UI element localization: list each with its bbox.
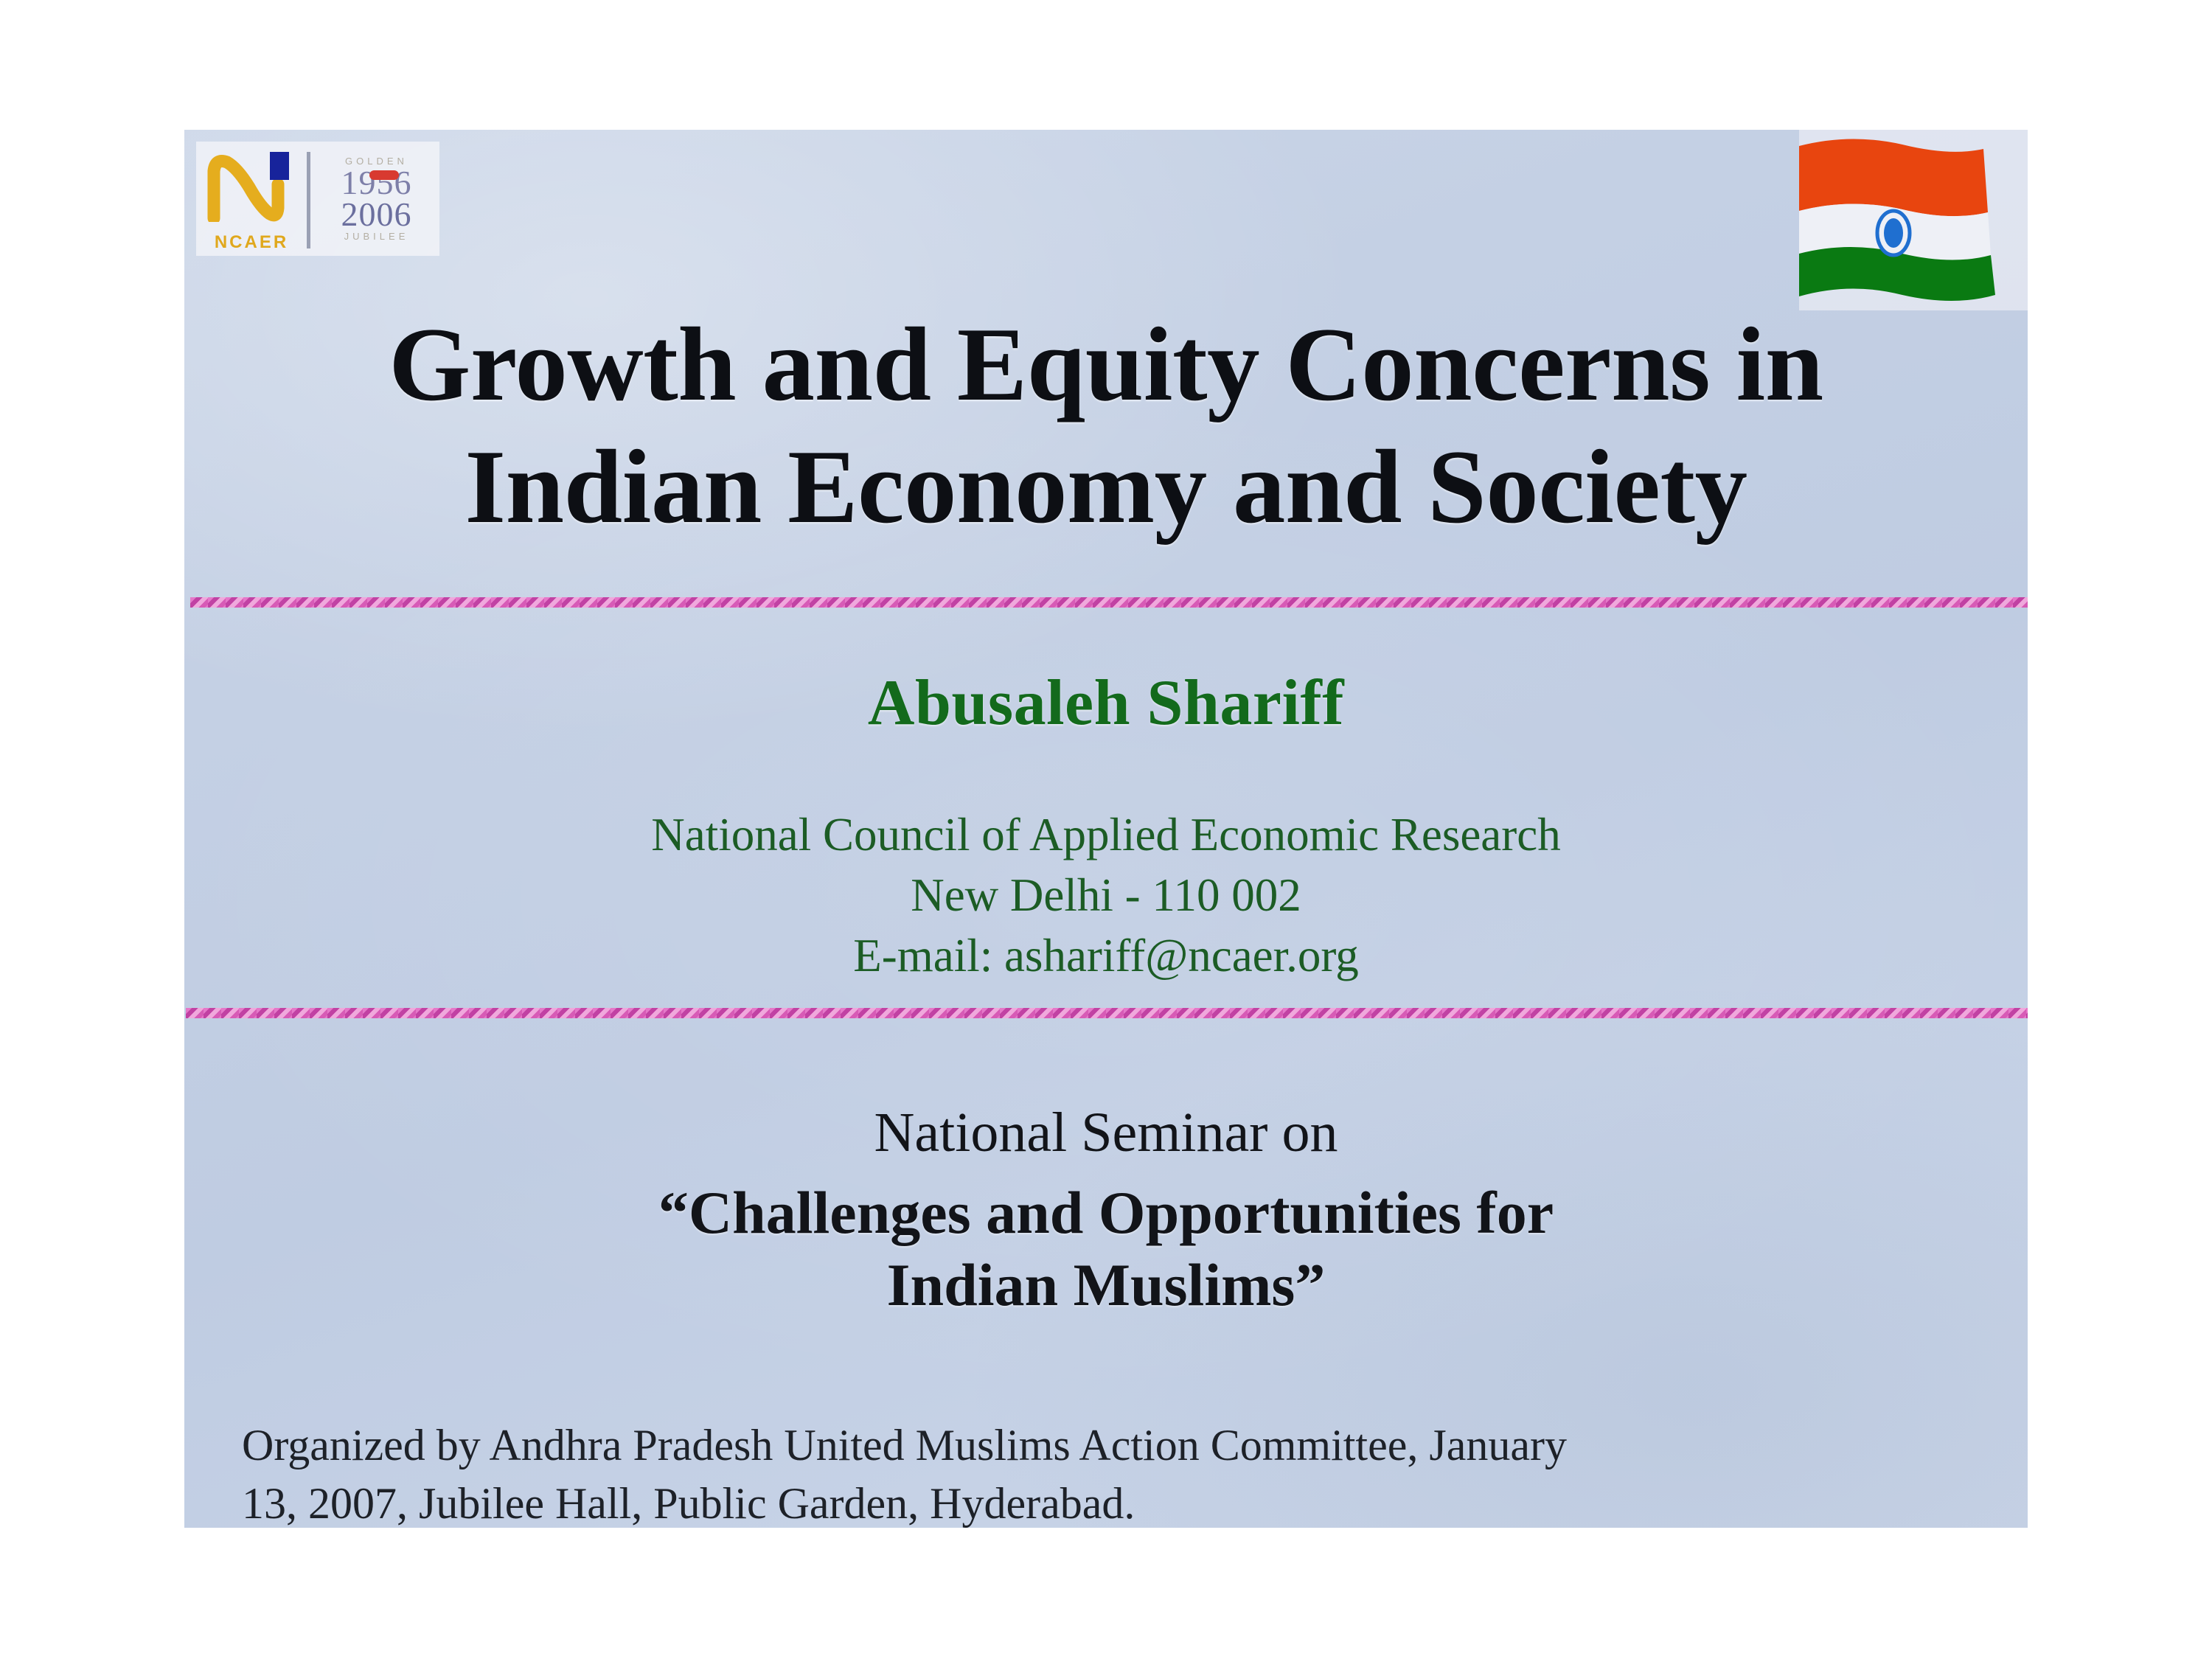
ncaer-logo-mark: NCAER: [196, 142, 307, 256]
organizer-line-1: Organized by Andhra Pradesh United Musli…: [242, 1416, 1967, 1475]
affiliation-city: New Delhi - 110 002: [184, 866, 2028, 926]
page-title: Growth and Equity Concerns in Indian Eco…: [184, 304, 2028, 549]
divider-bottom: [186, 1008, 2028, 1018]
seminar-title-line-1: “Challenges and Opportunities for: [184, 1177, 2028, 1249]
affiliation-organization: National Council of Applied Economic Res…: [184, 805, 2028, 866]
seminar-block: National Seminar on “Challenges and Oppo…: [184, 1100, 2028, 1321]
jubilee-year-to: 2006: [341, 199, 412, 230]
jubilee-years: 1956 2006: [341, 167, 412, 230]
logo-vertical-rule: [307, 152, 310, 248]
organizer-footer: Organized by Andhra Pradesh United Musli…: [242, 1416, 1967, 1528]
organizer-line-2: 13, 2007, Jubilee Hall, Public Garden, H…: [242, 1475, 1967, 1528]
presentation-slide: NCAER GOLDEN 1956 2006 JUBILEE Growth an…: [184, 130, 2028, 1528]
title-line-1: Growth and Equity Concerns in: [184, 304, 2028, 426]
ncaer-wordmark: NCAER: [215, 234, 288, 251]
indian-flag-icon: [1799, 130, 2028, 310]
seminar-title: “Challenges and Opportunities for Indian…: [184, 1177, 2028, 1322]
ncaer-blue-square-icon: [270, 152, 289, 180]
author-name: Abusaleh Shariff: [184, 666, 2028, 740]
jubilee-swoosh-icon: [369, 170, 399, 180]
divider-top: [190, 597, 2028, 608]
golden-jubilee-mark: GOLDEN 1956 2006 JUBILEE: [318, 142, 439, 256]
affiliation-email: E-mail: ashariff@ncaer.org: [184, 926, 2028, 987]
seminar-lead-text: National Seminar on: [184, 1100, 2028, 1166]
title-line-2: Indian Economy and Society: [184, 426, 2028, 549]
seminar-title-line-2: Indian Muslims”: [184, 1249, 2028, 1321]
affiliation-block: National Council of Applied Economic Res…: [184, 805, 2028, 987]
jubilee-bottom-text: JUBILEE: [344, 232, 409, 241]
ncaer-logo: NCAER GOLDEN 1956 2006 JUBILEE: [196, 142, 439, 256]
